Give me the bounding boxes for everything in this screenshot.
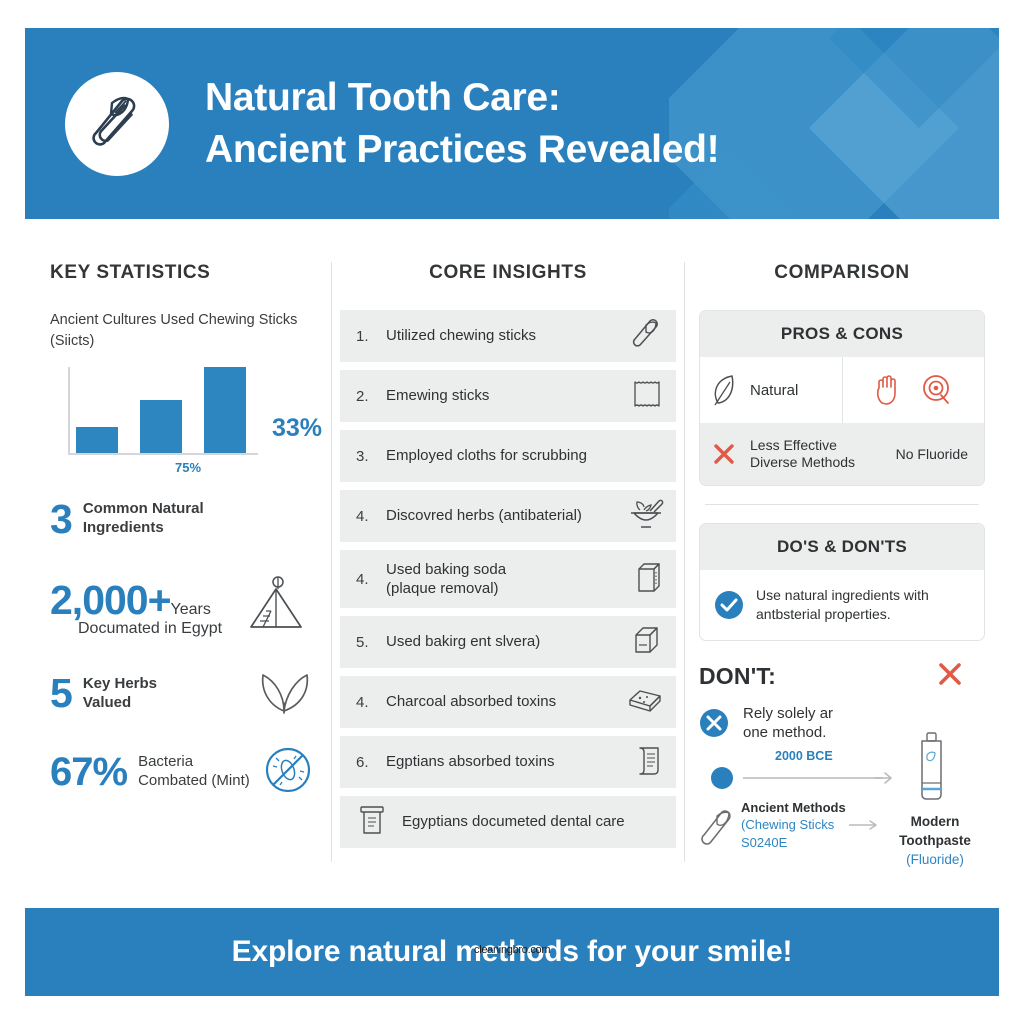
timeline-left-sub1: (Chewing Sticks xyxy=(741,816,846,834)
stat-label: Common Natural Ingredients xyxy=(83,500,204,538)
watermark: cleaningbro.com xyxy=(474,944,550,956)
no-fluoride-label: No Fluoride xyxy=(896,446,974,462)
do-text-line2: antbsterial properties. xyxy=(756,605,929,624)
stat-label: Bacteria Combated (Mint) xyxy=(138,753,250,791)
cons-line1: Less Effective xyxy=(750,437,855,455)
core-insights-heading: CORE INSIGHTS xyxy=(340,262,676,284)
chart-bars xyxy=(76,367,256,453)
stat-bacteria-combated: 67% Bacteria Combated (Mint) xyxy=(50,744,313,800)
key-statistics-heading: KEY STATISTICS xyxy=(50,262,313,284)
stat-number: 67% xyxy=(50,752,127,792)
pro-label: Natural xyxy=(750,382,798,399)
dont-header: DON'T: xyxy=(699,659,985,694)
stat-label-line2: Combated (Mint) xyxy=(138,772,250,791)
no-bacteria-icon xyxy=(263,745,313,795)
comparison-column: COMPARISON PROS & CONS Natural xyxy=(685,262,999,862)
red-x-icon xyxy=(935,659,965,689)
header-title-line1: Natural Tooth Care: xyxy=(205,72,719,124)
timeline-date: 2000 BCE xyxy=(775,749,833,763)
stat-icon-wrapper xyxy=(257,665,313,722)
leaf-outline-icon xyxy=(710,373,740,407)
chewing-sticks-bar-chart: 33% 75% xyxy=(50,365,313,469)
insight-number: 1. xyxy=(356,328,386,345)
list-item[interactable]: 4. Charcoal absorbed toxins xyxy=(340,676,676,728)
timeline-right-title: Modern Toothpaste xyxy=(875,813,995,851)
cons-summary-row: Less Effective Diverse Methods No Fluori… xyxy=(700,423,984,485)
core-insights-column: CORE INSIGHTS 1. Utilized chewing sticks… xyxy=(331,262,685,862)
list-item[interactable]: 1. Utilized chewing sticks xyxy=(340,310,676,362)
cons-cell xyxy=(842,357,985,423)
cons-summary-label: Less Effective Diverse Methods xyxy=(750,437,855,472)
stat-number: 3 xyxy=(50,499,72,540)
stat-label-line2: Valued xyxy=(83,694,157,713)
dont-text: Rely solely ar one method. xyxy=(743,704,833,743)
pyramid-icon xyxy=(245,575,307,637)
dont-text-line2: one method. xyxy=(743,723,833,743)
stat-icon-wrapper xyxy=(263,745,313,800)
header-title: Natural Tooth Care: Ancient Practices Re… xyxy=(205,72,719,176)
do-item: Use natural ingredients with antbsterial… xyxy=(700,570,984,640)
bar-2 xyxy=(140,400,182,453)
stat-label: Key Herbs Valued xyxy=(83,675,157,713)
list-item[interactable]: 4. Discovred herbs (antibaterial) xyxy=(340,490,676,542)
timeline-arrow-icon xyxy=(875,771,893,785)
hand-stop-icon xyxy=(872,373,906,407)
insight-number: 6. xyxy=(356,754,386,771)
insight-number: 5. xyxy=(356,634,386,651)
list-item[interactable]: 2. Emewing sticks xyxy=(340,370,676,422)
timeline-line xyxy=(743,777,883,779)
dos-donts-title: DO'S & DON'TS xyxy=(700,524,984,570)
stat-number: 2,000+ xyxy=(50,577,171,623)
list-item[interactable]: 4. Used baking soda(plaque removal) xyxy=(340,550,676,608)
insight-text: Used baking soda(plaque removal) xyxy=(386,560,624,599)
target-icon xyxy=(920,373,954,407)
scroll-icon xyxy=(632,742,664,783)
content-columns: KEY STATISTICS Ancient Cultures Used Che… xyxy=(25,262,999,862)
timeline-start-dot xyxy=(711,767,733,789)
leaf-toothbrush-icon xyxy=(630,317,664,356)
insight-text: Emewing sticks xyxy=(386,386,622,406)
header-title-line2: Ancient Practices Revealed! xyxy=(205,124,719,176)
bar-1 xyxy=(76,427,118,453)
timeline-right-sub: (Fluoride) xyxy=(875,851,995,870)
insight-number: 4. xyxy=(356,508,386,525)
stat-label-line2: Ingredients xyxy=(83,519,204,538)
comparison-heading: COMPARISON xyxy=(699,262,985,284)
leaf-toothbrush-icon xyxy=(699,805,739,849)
insight-text: Charcoal absorbed toxins xyxy=(386,692,618,712)
insight-number: 3. xyxy=(356,448,386,465)
pros-cons-grid: Natural xyxy=(700,357,984,423)
cons-line2: Diverse Methods xyxy=(750,454,855,472)
stat-key-herbs: 5 Key Herbs Valued xyxy=(50,665,313,722)
dont-title: DON'T: xyxy=(699,663,776,690)
do-text-line1: Use natural ingredients with xyxy=(756,586,929,605)
insight-text: Egyptians documeted dental care xyxy=(402,812,664,832)
blue-x-circle-icon xyxy=(699,708,729,738)
list-item[interactable]: 3. Employed cloths for scrubbing xyxy=(340,430,676,482)
chart-caption: Ancient Cultures Used Chewing Sticks (Si… xyxy=(50,310,313,351)
dont-text-line1: Rely solely ar xyxy=(743,704,833,724)
leaf-toothbrush-icon xyxy=(84,91,150,157)
stat-common-ingredients: 3 Common Natural Ingredients xyxy=(50,491,313,547)
insight-text: Discovred herbs (antibaterial) xyxy=(386,506,620,526)
infographic-page: Natural Tooth Care: Ancient Practices Re… xyxy=(0,0,1024,1024)
pros-cell: Natural xyxy=(700,357,842,423)
timeline: 2000 BCE Ancient Methods (Chewing Sticks… xyxy=(699,757,985,853)
timeline-left-label: Ancient Methods (Chewing Sticks S0240E xyxy=(741,799,846,852)
chart-value-33: 33% xyxy=(272,414,322,443)
document-icon xyxy=(356,803,388,842)
list-item[interactable]: 6. Egptians absorbed toxins xyxy=(340,736,676,788)
stat-years-egypt: 2,000+Years Documated in Egypt xyxy=(50,577,313,643)
list-item[interactable]: 5. Used bakirg ent slvera) xyxy=(340,616,676,668)
insight-text: Employed cloths for scrubbing xyxy=(386,446,664,466)
baking-soda-box-icon xyxy=(632,559,664,600)
box-icon xyxy=(630,623,664,662)
list-item[interactable]: Egyptians documeted dental care xyxy=(340,796,676,848)
section-divider xyxy=(705,504,979,505)
stat-unit: Years xyxy=(171,601,211,618)
stat-label-line1: Key Herbs xyxy=(83,675,157,694)
toothpaste-tube-icon xyxy=(905,729,959,805)
red-x-icon xyxy=(710,440,738,468)
leaf-icon xyxy=(257,665,313,717)
stat-label-line1: Bacteria xyxy=(138,753,250,772)
bar-3 xyxy=(204,367,246,453)
stat-label-line1: Common Natural xyxy=(83,500,204,519)
insight-number: 4. xyxy=(356,571,386,588)
charcoal-block-icon xyxy=(626,684,664,721)
do-text: Use natural ingredients with antbsterial… xyxy=(756,586,929,624)
header-logo-badge xyxy=(65,72,169,176)
timeline-left-title: Ancient Methods xyxy=(741,799,846,817)
chart-value-75: 75% xyxy=(175,460,201,475)
insight-text: Used bakirg ent slvera) xyxy=(386,632,622,652)
pros-cons-card: PROS & CONS Natural xyxy=(699,310,985,486)
insight-number: 4. xyxy=(356,694,386,711)
timeline-right-label: Modern Toothpaste (Fluoride) xyxy=(875,813,995,870)
timeline-left-sub2: S0240E xyxy=(741,834,846,852)
insight-text: Egptians absorbed toxins xyxy=(386,752,624,772)
pros-cons-title: PROS & CONS xyxy=(700,311,984,357)
mortar-pestle-icon xyxy=(628,497,664,536)
blue-check-circle-icon xyxy=(714,590,744,620)
dos-donts-card: DO'S & DON'TS Use natural ingredients wi… xyxy=(699,523,985,641)
header-banner: Natural Tooth Care: Ancient Practices Re… xyxy=(25,28,999,219)
cloth-square-icon xyxy=(630,377,664,416)
insight-number: 2. xyxy=(356,388,386,405)
stat-number: 5 xyxy=(50,673,72,714)
insight-text: Utilized chewing sticks xyxy=(386,326,622,346)
key-statistics-column: KEY STATISTICS Ancient Cultures Used Che… xyxy=(25,262,331,862)
dont-x-wrapper xyxy=(935,659,985,694)
